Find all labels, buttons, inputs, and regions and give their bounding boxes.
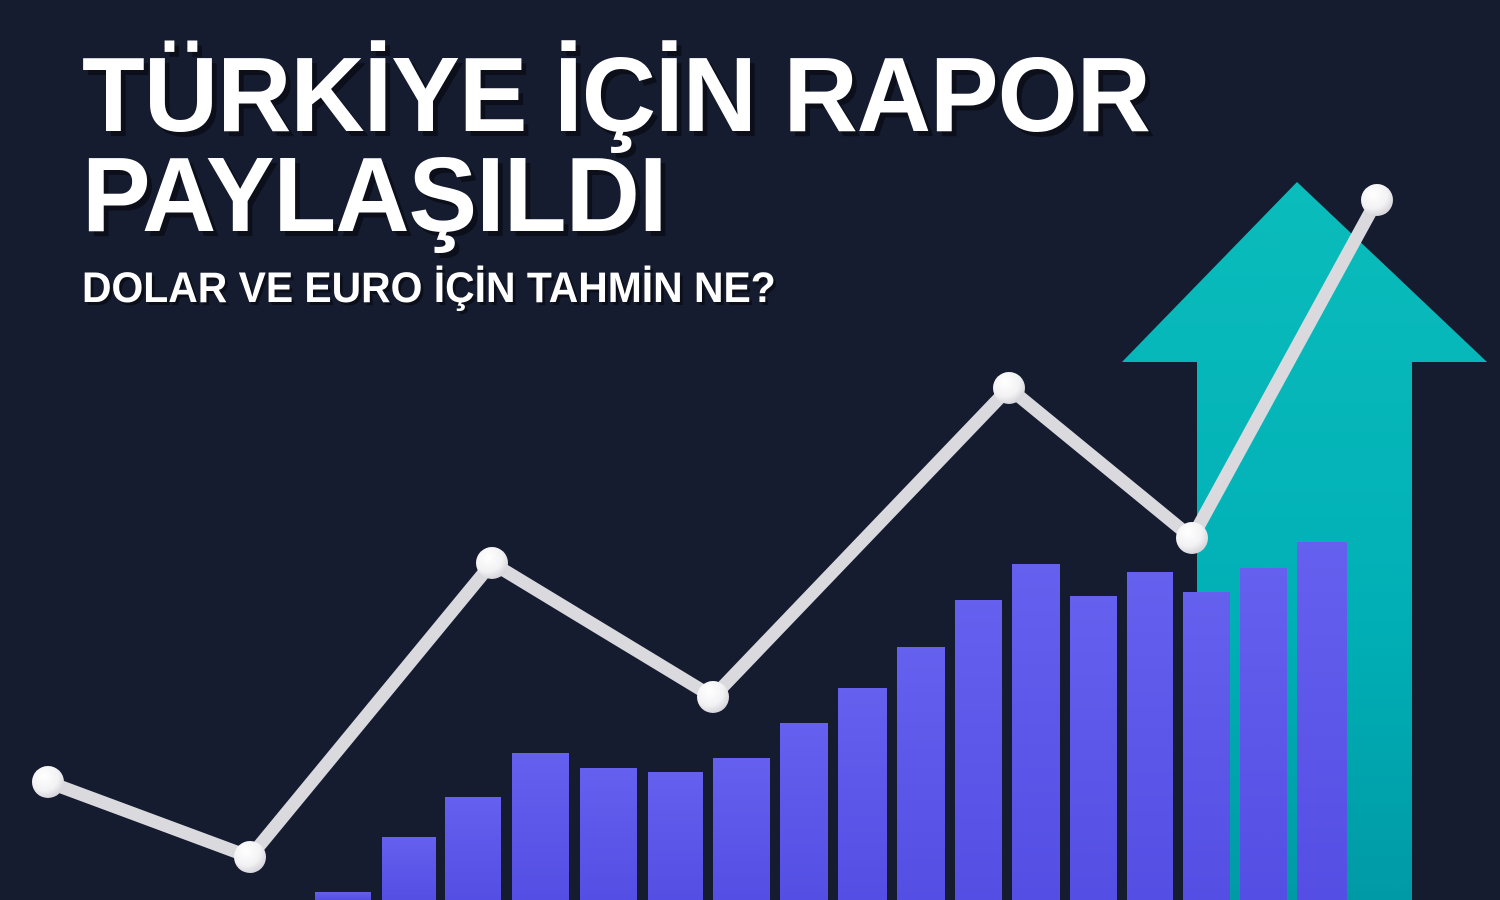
- bar-16: [1240, 568, 1287, 900]
- data-point-marker-1: [32, 766, 64, 798]
- data-point-marker-3: [476, 547, 508, 579]
- financial-chart: [0, 0, 1500, 900]
- bar-7: [713, 758, 770, 900]
- data-point-marker-7: [1361, 184, 1393, 216]
- data-point-marker-2: [234, 841, 266, 873]
- bar-11: [955, 600, 1002, 900]
- bar-6: [648, 772, 703, 900]
- data-point-marker-6: [1176, 522, 1208, 554]
- bar-15: [1183, 592, 1230, 900]
- infographic-canvas: TÜRKİYE İÇİN RAPOR PAYLAŞILDI DOLAR VE E…: [0, 0, 1500, 900]
- data-point-marker-4: [697, 681, 729, 713]
- bar-1: [315, 892, 371, 900]
- bar-5: [580, 768, 637, 900]
- bar-9: [838, 688, 887, 900]
- bar-4: [512, 753, 569, 900]
- bar-12: [1012, 564, 1060, 900]
- bar-14: [1127, 572, 1173, 900]
- bar-17: [1297, 542, 1347, 900]
- bar-2: [382, 837, 436, 900]
- bar-13: [1070, 596, 1117, 900]
- bar-3: [445, 797, 501, 900]
- bar-10: [897, 647, 945, 900]
- bar-8: [780, 723, 828, 900]
- data-point-marker-5: [993, 372, 1025, 404]
